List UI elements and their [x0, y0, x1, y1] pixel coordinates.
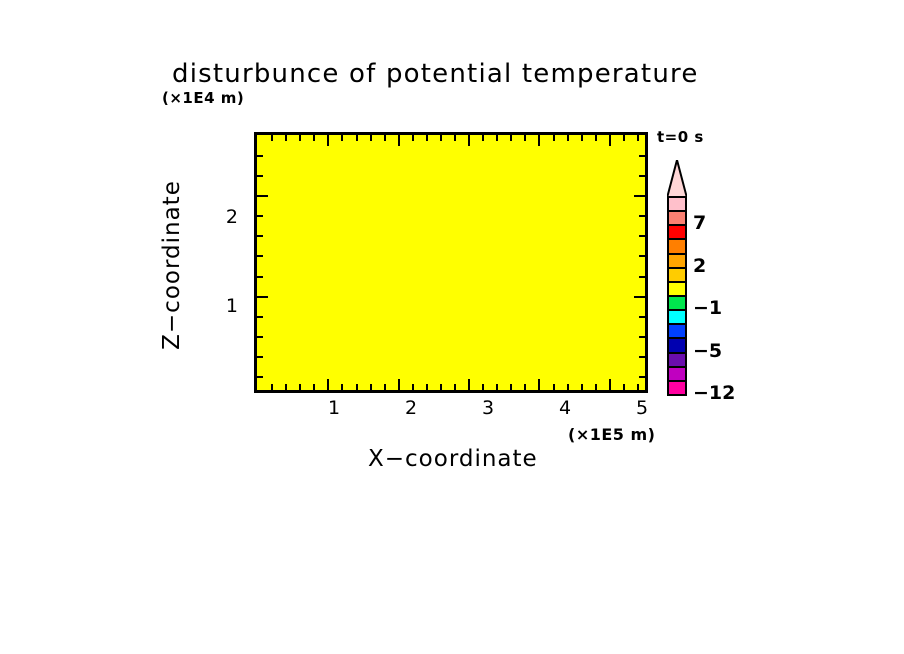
y-major-tick	[257, 195, 268, 197]
x-tick-label: 3	[468, 397, 508, 419]
y-minor-tick-top	[639, 155, 645, 157]
x-minor-tick	[356, 384, 358, 390]
y-minor-tick	[257, 235, 263, 237]
x-minor-tick-top	[285, 135, 287, 141]
x-minor-tick	[496, 384, 498, 390]
x-axis-unit-label: (×1E5 m)	[568, 425, 655, 444]
x-minor-tick-top	[496, 135, 498, 141]
time-annotation: t=0 s	[657, 128, 704, 146]
x-minor-tick	[384, 384, 386, 390]
x-tick-label: 1	[314, 397, 354, 419]
colorbar-arrow-icon	[667, 160, 687, 198]
x-minor-tick-top	[595, 135, 597, 141]
x-minor-tick-top	[454, 135, 456, 141]
y-minor-tick	[257, 316, 263, 318]
y-minor-tick	[257, 155, 263, 157]
x-major-tick-top	[468, 135, 470, 146]
x-major-tick	[468, 379, 470, 390]
x-minor-tick-top	[299, 135, 301, 141]
x-minor-tick	[454, 384, 456, 390]
y-minor-tick-top	[639, 276, 645, 278]
y-axis-title: Z−coordinate	[159, 175, 185, 355]
x-minor-tick	[341, 384, 343, 390]
x-major-tick	[327, 379, 329, 390]
x-minor-tick-top	[356, 135, 358, 141]
x-minor-tick	[553, 384, 555, 390]
x-minor-tick-top	[510, 135, 512, 141]
y-minor-tick	[257, 336, 263, 338]
x-minor-tick	[426, 384, 428, 390]
x-minor-tick-top	[341, 135, 343, 141]
x-major-tick-top	[538, 135, 540, 146]
x-minor-tick	[271, 384, 273, 390]
x-minor-tick-top	[637, 135, 639, 141]
x-minor-tick-top	[553, 135, 555, 141]
colorbar-tick-label: 7	[693, 212, 706, 234]
y-minor-tick-top	[639, 235, 645, 237]
y-tick-label: 2	[198, 206, 238, 228]
y-minor-tick-top	[639, 376, 645, 378]
x-major-tick-top	[398, 135, 400, 146]
x-minor-tick-top	[482, 135, 484, 141]
colorbar-tick-label: 2	[693, 255, 706, 277]
colorbar[interactable]	[667, 196, 687, 394]
x-minor-tick	[567, 384, 569, 390]
x-minor-tick-top	[271, 135, 273, 141]
colorbar-tick-label: −5	[693, 340, 722, 362]
y-minor-tick	[257, 376, 263, 378]
y-minor-tick	[257, 276, 263, 278]
y-minor-tick	[257, 255, 263, 257]
y-major-tick	[257, 296, 268, 298]
x-major-tick	[538, 379, 540, 390]
page-title: disturbunce of potential temperature	[172, 59, 699, 89]
x-minor-tick	[285, 384, 287, 390]
x-minor-tick	[637, 384, 639, 390]
x-minor-tick	[313, 384, 315, 390]
y-major-tick-top	[634, 296, 645, 298]
x-minor-tick-top	[384, 135, 386, 141]
x-minor-tick	[412, 384, 414, 390]
x-major-tick	[609, 379, 611, 390]
y-minor-tick-top	[639, 175, 645, 177]
x-minor-tick-top	[581, 135, 583, 141]
y-tick-label: 1	[198, 295, 238, 317]
x-minor-tick-top	[426, 135, 428, 141]
x-minor-tick	[510, 384, 512, 390]
y-minor-tick-top	[639, 336, 645, 338]
x-tick-label: 2	[391, 397, 431, 419]
x-minor-tick	[440, 384, 442, 390]
x-minor-tick-top	[440, 135, 442, 141]
x-tick-label: 4	[545, 397, 585, 419]
x-major-tick-top	[609, 135, 611, 146]
x-major-tick	[398, 379, 400, 390]
y-minor-tick-top	[639, 255, 645, 257]
y-minor-tick-top	[639, 316, 645, 318]
x-minor-tick	[581, 384, 583, 390]
y-minor-tick	[257, 175, 263, 177]
x-minor-tick-top	[370, 135, 372, 141]
plot-area[interactable]	[254, 132, 648, 393]
colorbar-tick-label: −12	[693, 382, 735, 404]
y-minor-tick-top	[639, 356, 645, 358]
x-minor-tick	[623, 384, 625, 390]
x-axis-title: X−coordinate	[368, 446, 538, 472]
x-major-tick-top	[327, 135, 329, 146]
x-minor-tick	[370, 384, 372, 390]
y-major-tick-top	[634, 195, 645, 197]
x-minor-tick-top	[623, 135, 625, 141]
x-minor-tick-top	[313, 135, 315, 141]
x-minor-tick	[299, 384, 301, 390]
y-minor-tick-top	[639, 215, 645, 217]
x-minor-tick	[524, 384, 526, 390]
colorbar-tick-label: −1	[693, 297, 722, 319]
heatmap-field	[257, 135, 645, 390]
x-minor-tick	[482, 384, 484, 390]
x-minor-tick	[595, 384, 597, 390]
x-tick-label: 5	[622, 397, 662, 419]
y-minor-tick	[257, 215, 263, 217]
y-axis-unit-label: (×1E4 m)	[162, 89, 244, 107]
colorbar-band	[667, 380, 687, 396]
y-minor-tick	[257, 356, 263, 358]
x-minor-tick-top	[524, 135, 526, 141]
x-minor-tick-top	[412, 135, 414, 141]
x-minor-tick-top	[567, 135, 569, 141]
